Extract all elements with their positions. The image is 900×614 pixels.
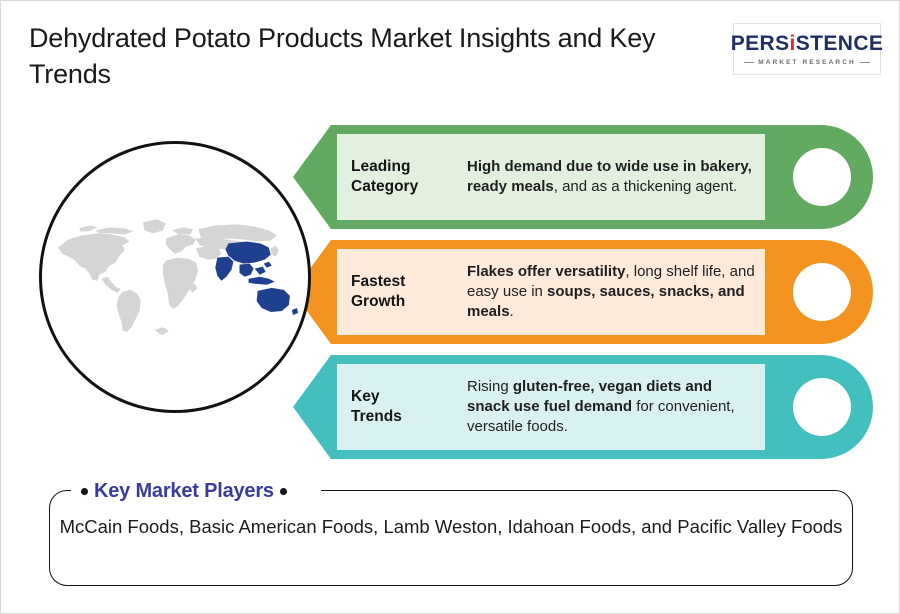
insight-row-leading-category: Leading Category High demand due to wide… — [293, 125, 873, 229]
row-description-plain-1: Rising — [467, 378, 513, 395]
world-map-highlight-asia-pacific — [215, 241, 298, 315]
key-market-players-title-group: Key Market Players — [81, 480, 287, 503]
row-description: Flakes offer versatility, long shelf lif… — [459, 262, 755, 322]
logo-word-part2: STENCE — [796, 32, 884, 55]
row-panel: Key Trends Rising gluten-free, vegan die… — [337, 364, 765, 450]
world-map-base-continents — [58, 219, 279, 335]
insight-row-key-trends: Key Trends Rising gluten-free, vegan die… — [293, 355, 873, 459]
logo-rule-right — [860, 62, 870, 63]
row-panel: Fastest Growth Flakes offer versatility,… — [337, 249, 765, 335]
globe-world-map-icon — [39, 141, 311, 413]
row-description: High demand due to wide use in bakery, r… — [459, 157, 755, 197]
row-label-line1: Leading — [351, 157, 459, 177]
logo-word-part1: PERS — [731, 32, 790, 55]
row-label: Key Trends — [351, 387, 459, 427]
row-label: Fastest Growth — [351, 272, 459, 312]
row-panel: Leading Category High demand due to wide… — [337, 134, 765, 220]
logo-subtitle: MARKET RESEARCH — [758, 59, 856, 66]
world-map-svg — [49, 210, 301, 344]
key-market-players-names: McCain Foods, Basic American Foods, Lamb… — [59, 514, 843, 540]
logo-wordmark: PERSiSTENCE — [731, 33, 884, 54]
row-label-line2: Growth — [351, 292, 459, 312]
row-label-line1: Key — [351, 387, 459, 407]
bullet-right-icon — [280, 488, 287, 495]
row-description-bold-1: Flakes offer versatility — [467, 263, 625, 280]
row-label-line2: Category — [351, 177, 459, 197]
row-description-plain-2: . — [510, 303, 514, 320]
persistence-market-research-logo: PERSiSTENCE MARKET RESEARCH — [733, 23, 881, 75]
row-end-hole — [793, 263, 851, 321]
bullet-left-icon — [81, 488, 88, 495]
logo-rule-left — [744, 62, 754, 63]
row-end-hole — [793, 148, 851, 206]
row-label: Leading Category — [351, 157, 459, 197]
insight-row-fastest-growth: Fastest Growth Flakes offer versatility,… — [293, 240, 873, 344]
page-title: Dehydrated Potato Products Market Insigh… — [29, 21, 709, 92]
infographic-canvas: Dehydrated Potato Products Market Insigh… — [0, 0, 900, 614]
row-description: Rising gluten-free, vegan diets and snac… — [459, 377, 755, 437]
logo-subtitle-wrap: MARKET RESEARCH — [744, 59, 870, 66]
key-market-players-title: Key Market Players — [94, 480, 274, 503]
row-label-line2: Trends — [351, 407, 459, 427]
row-end-hole — [793, 378, 851, 436]
row-label-line1: Fastest — [351, 272, 459, 292]
row-description-plain-1: , and as a thickening agent. — [554, 178, 737, 195]
